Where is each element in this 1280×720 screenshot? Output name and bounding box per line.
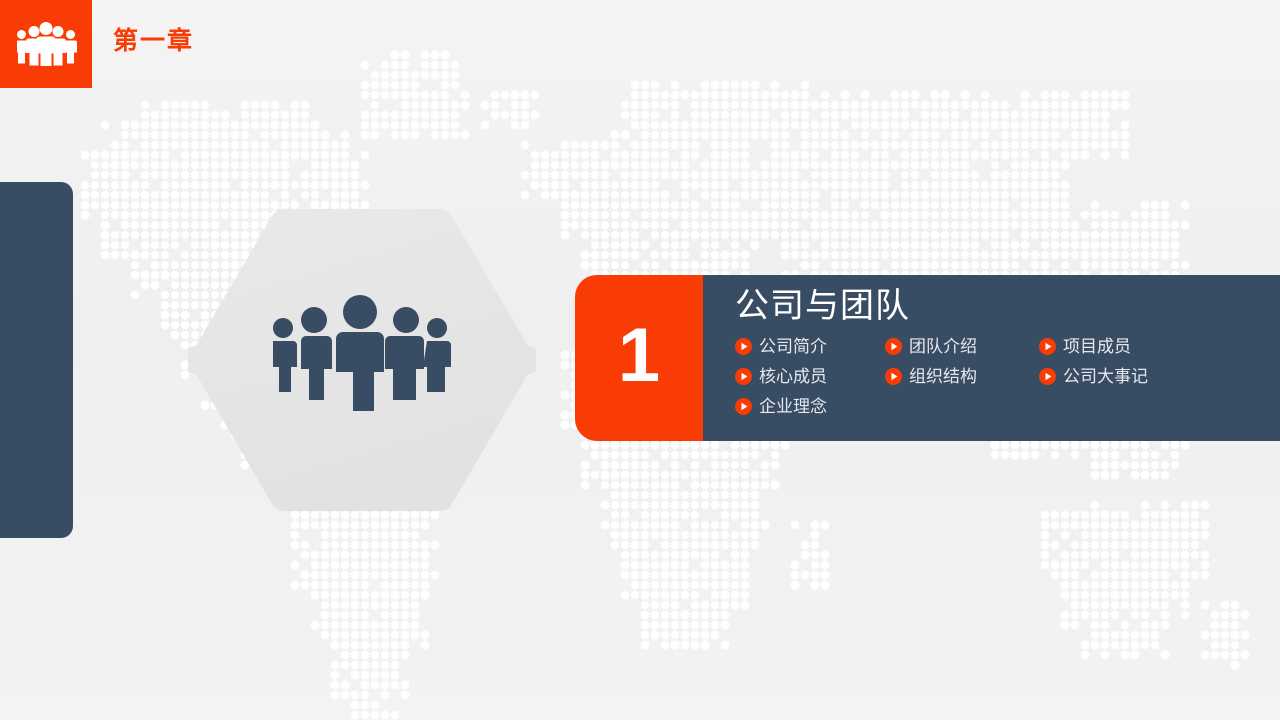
play-circle-icon xyxy=(885,368,902,385)
play-circle-icon xyxy=(885,338,902,355)
play-circle-icon xyxy=(1039,338,1056,355)
link-item-org-structure[interactable]: 组织结构 xyxy=(885,368,1039,385)
link-item-corporate-philosophy[interactable]: 企业理念 xyxy=(735,398,885,415)
card-title: 公司与团队 xyxy=(735,284,1280,328)
link-item-team-intro[interactable]: 团队介绍 xyxy=(885,338,1039,355)
link-item-project-members[interactable]: 项目成员 xyxy=(1039,338,1280,355)
logo-badge xyxy=(0,0,92,88)
link-label: 企业理念 xyxy=(759,398,827,415)
link-item-company-milestones[interactable]: 公司大事记 xyxy=(1039,368,1280,385)
hexagon-illustration xyxy=(188,205,536,515)
chapter-content-card: 1 公司与团队 公司简介 xyxy=(575,275,1280,441)
link-label: 项目成员 xyxy=(1063,338,1131,355)
play-circle-icon xyxy=(735,338,752,355)
card-link-grid: 公司简介 团队介绍 xyxy=(735,331,1280,421)
card-body: 公司与团队 公司简介 xyxy=(703,275,1280,441)
chapter-number: 1 xyxy=(618,318,660,394)
link-label: 组织结构 xyxy=(909,368,977,385)
left-navy-tab xyxy=(0,182,73,538)
chapter-number-block: 1 xyxy=(575,275,703,441)
link-label: 公司简介 xyxy=(759,338,827,355)
link-item-core-members[interactable]: 核心成员 xyxy=(735,368,885,385)
link-label: 公司大事记 xyxy=(1063,368,1148,385)
people-group-icon xyxy=(15,22,77,66)
play-circle-icon xyxy=(1039,368,1056,385)
link-label: 核心成员 xyxy=(759,368,827,385)
link-label: 团队介绍 xyxy=(909,338,977,355)
slide-canvas: 第一章 xyxy=(0,0,1280,720)
play-circle-icon xyxy=(735,398,752,415)
link-item-company-intro[interactable]: 公司简介 xyxy=(735,338,885,355)
play-circle-icon xyxy=(735,368,752,385)
chapter-label: 第一章 xyxy=(113,25,194,58)
